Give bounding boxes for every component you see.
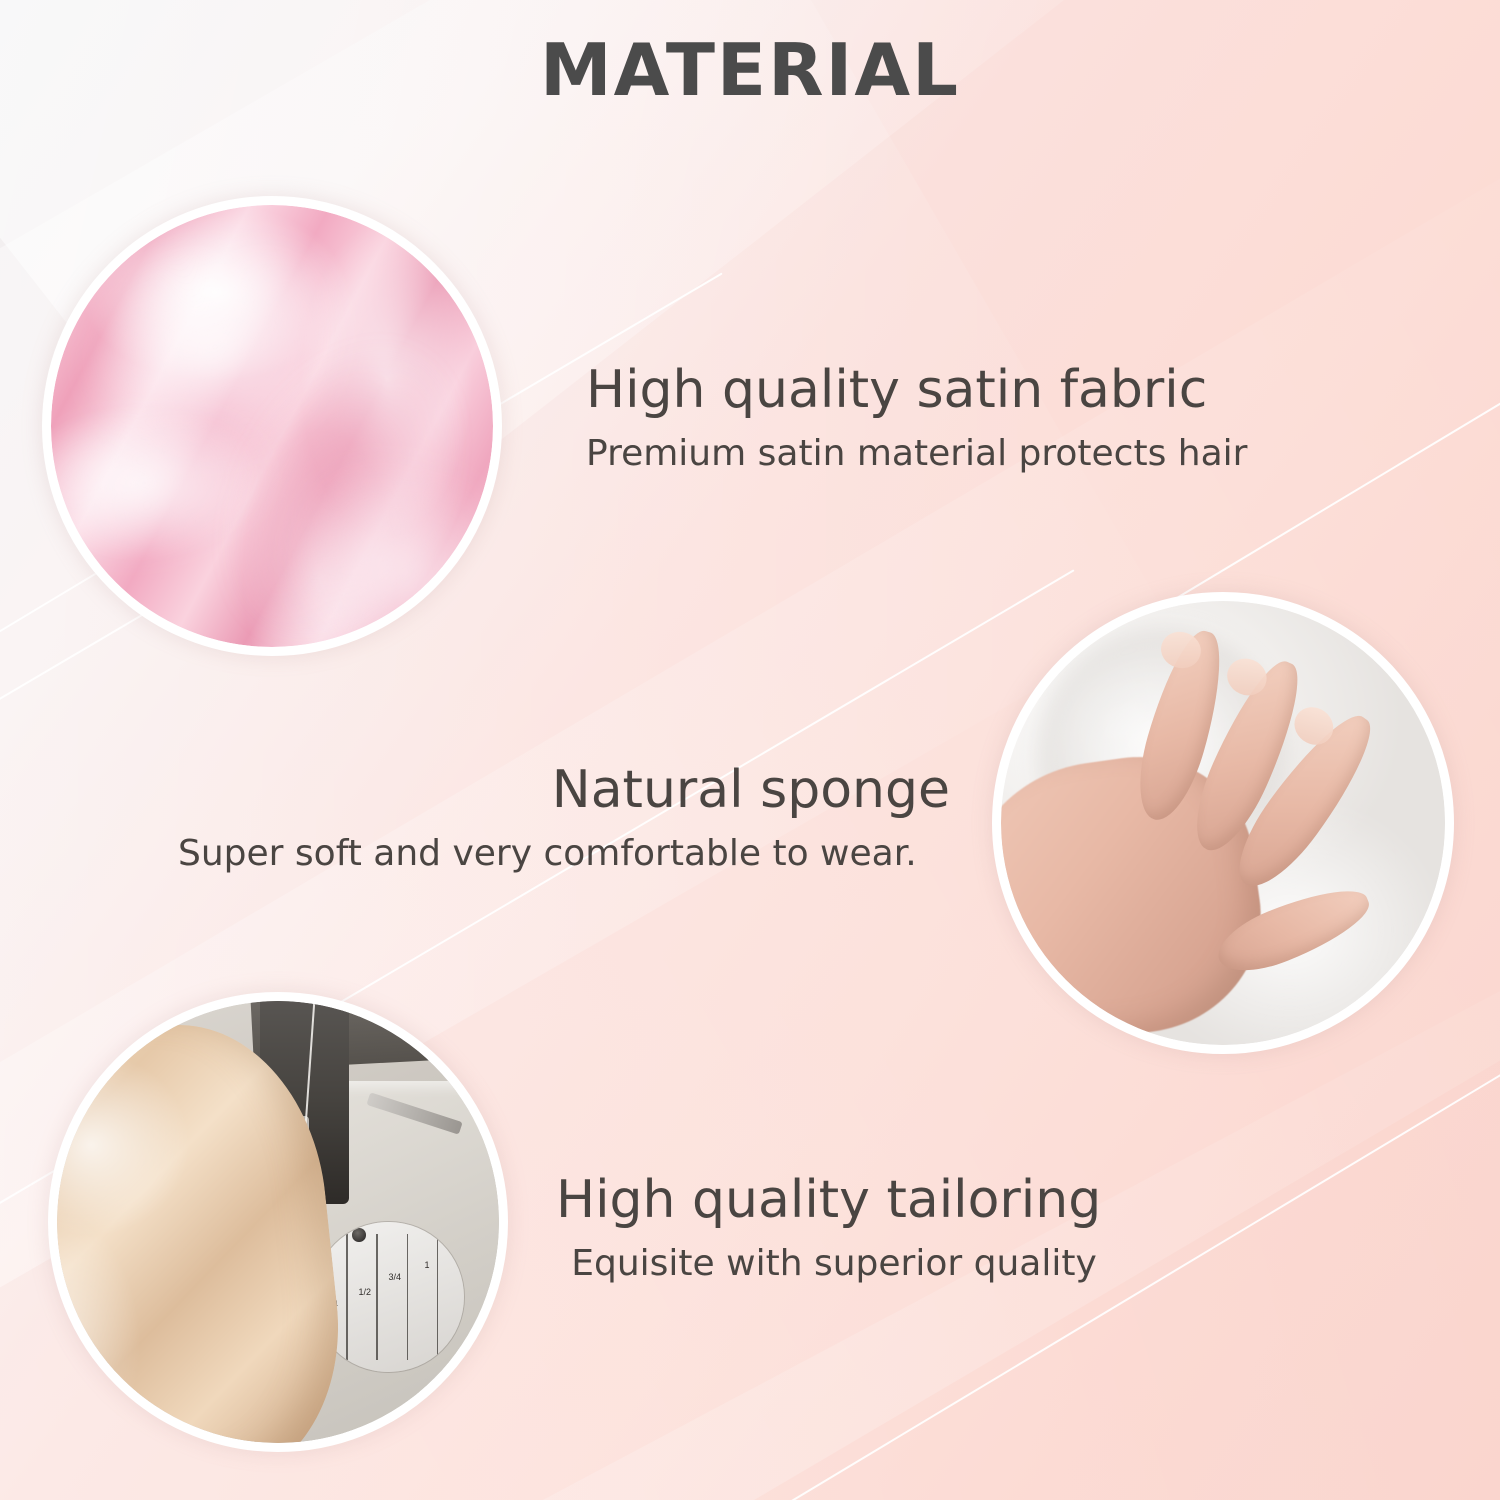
satin-fabric-image xyxy=(42,196,502,656)
seam-guide-label: 1/2 xyxy=(358,1288,371,1297)
sponge-image xyxy=(992,592,1454,1054)
feature-subtext: Equisite with superior quality xyxy=(556,1243,1112,1284)
feature-text-high-quality-tailoring: High quality tailoring Equisite with sup… xyxy=(556,1172,1112,1285)
seam-guide-screw xyxy=(352,1228,366,1242)
seam-guide-line xyxy=(407,1234,409,1360)
feature-text-natural-sponge: Natural sponge Super soft and very comfo… xyxy=(178,762,956,875)
feature-text-satin-fabric: High quality satin fabric Premium satin … xyxy=(586,362,1247,475)
feature-subtext: Premium satin material protects hair xyxy=(586,433,1247,474)
feature-headline: High quality satin fabric xyxy=(586,362,1247,419)
seam-guide-label: 3/4 xyxy=(388,1273,401,1282)
seam-guide-label: 1 xyxy=(425,1261,430,1270)
material-infographic: MATERIAL xyxy=(0,0,1500,1500)
sewing-machine-image: 1/4 1/2 3/4 1 xyxy=(48,992,508,1452)
feature-headline: Natural sponge xyxy=(178,762,956,819)
seam-guide-line xyxy=(376,1234,378,1360)
seam-guide-line xyxy=(346,1234,348,1360)
seam-guide-line xyxy=(437,1234,439,1360)
feature-headline: High quality tailoring xyxy=(556,1172,1112,1229)
page-title: MATERIAL xyxy=(0,28,1500,112)
feature-subtext: Super soft and very comfortable to wear. xyxy=(178,833,956,874)
